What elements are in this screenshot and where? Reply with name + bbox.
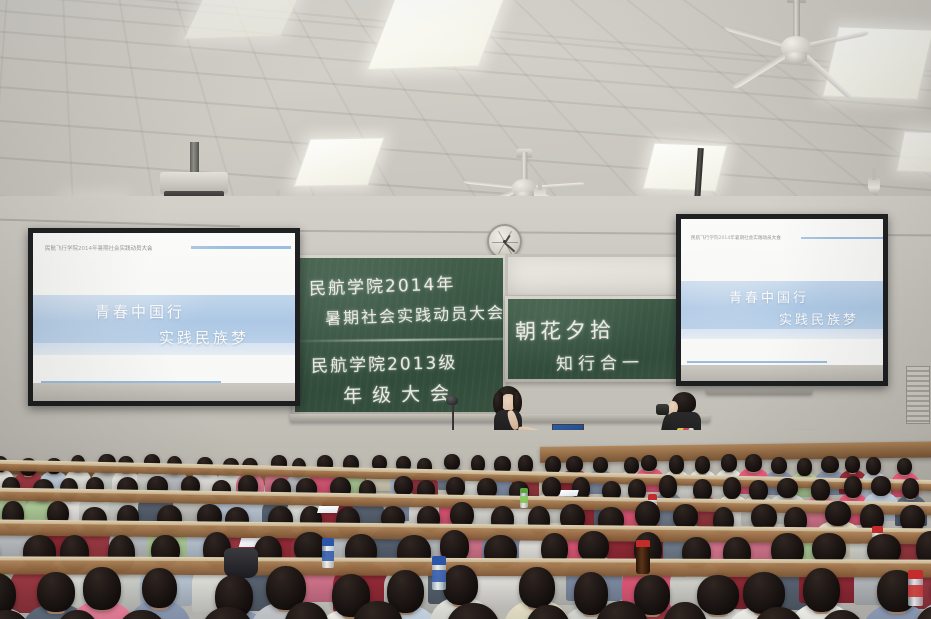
left-screen-bottom-bar [33, 383, 295, 401]
audience-head [83, 567, 120, 609]
audience-head [745, 454, 762, 471]
right-screen-bottom-bar [681, 365, 883, 381]
audience-head [897, 458, 912, 476]
bottle-cap [636, 540, 650, 547]
clock-center-pin [503, 240, 506, 243]
water-bottle [322, 538, 334, 568]
audience-head [777, 478, 798, 498]
water-bottle [908, 570, 923, 606]
audience-head [659, 475, 677, 497]
blackboard-right-surface: 朝花夕拾 知行合一 [508, 299, 678, 379]
blackboard-line-1: 民航学院2014年 [309, 269, 456, 299]
water-bottle [432, 556, 446, 590]
audience-head [902, 478, 920, 499]
chalk-tray-right [706, 388, 812, 394]
right-slide-header: 民航飞行学院2014年暑期社会实践动员大会 [691, 235, 781, 241]
bottle-label [520, 496, 528, 503]
audience-head [624, 457, 639, 474]
audience-head [444, 454, 460, 470]
left-slide-rule-top [191, 246, 291, 249]
blackboard-main: 民航学院2014年 暑期社会实践动员大会 民航学院2013级 年级大会 [292, 255, 506, 415]
audience-head [866, 457, 880, 475]
fan-hub-cap [785, 52, 807, 64]
audience-head [669, 455, 684, 474]
bottle-cap [872, 526, 883, 533]
audience-head [519, 567, 555, 608]
audience-head [811, 479, 830, 501]
audience-head [825, 501, 851, 526]
audience-head [566, 456, 583, 473]
bottle-cap [432, 556, 446, 565]
audience-head [871, 476, 891, 496]
paper-handout [317, 506, 339, 513]
bottle-label [908, 585, 923, 597]
sprinkler-head [868, 178, 880, 194]
audience-head [803, 568, 840, 613]
bottle-cap [908, 570, 923, 579]
bottle-label [322, 551, 334, 561]
audience-head [635, 501, 660, 528]
ceiling-light-panel [643, 143, 728, 192]
left-projection-screen: 民航飞行学院2014年暑期社会实践动员大会 青春中国行 实践民族梦 [28, 228, 300, 406]
blackboard-line-2: 暑期社会实践动员大会 [325, 299, 503, 329]
left-screen-surface: 民航飞行学院2014年暑期社会实践动员大会 青春中国行 实践民族梦 [33, 233, 295, 401]
blackboard-surface: 民航学院2014年 暑期社会实践动员大会 民航学院2013级 年级大会 [295, 258, 503, 412]
audience-head [821, 456, 838, 473]
wall-vent-grille [906, 366, 930, 424]
audience-head [721, 454, 737, 472]
audience-head [771, 457, 787, 474]
right-projection-screen: 民航飞行学院2014年暑期社会实践动员大会 青春中国行 实践民族梦 [676, 214, 888, 386]
right-slide-band-light [681, 329, 883, 339]
blackboard-right: 朝花夕拾 知行合一 [505, 296, 681, 382]
audience-head [693, 479, 713, 501]
microphone-head [446, 396, 458, 405]
audience-head [844, 476, 862, 498]
audience-head [749, 480, 768, 501]
audience-head [142, 568, 177, 609]
audience-head [797, 458, 811, 476]
audience-head [641, 455, 657, 471]
audience-head [37, 572, 75, 612]
blackboard-line-3: 民航学院2013级 [311, 348, 458, 377]
bottle-label [432, 570, 446, 582]
cola-bottle [636, 540, 650, 574]
audience-head [697, 575, 739, 616]
blackboard-right-line-1: 朝花夕拾 [515, 314, 616, 346]
left-slide-title-1: 青春中国行 [95, 301, 185, 322]
left-slide-header: 民航飞行学院2014年暑期社会实践动员大会 [45, 244, 153, 252]
bottle-cap [520, 488, 528, 493]
paper-handout [559, 490, 579, 496]
lecture-hall-photo: EPSON 民航学院2014年 暑期社会实践动员大会 民航学院2013级 年级大… [0, 0, 931, 619]
blackboard-right-line-2: 知行合一 [556, 348, 644, 375]
right-slide-title-1: 青春中国行 [729, 287, 809, 306]
audience-head [845, 456, 860, 473]
right-slide-title-2: 实践民族梦 [779, 309, 859, 328]
right-slide-rule-top [801, 237, 883, 239]
audience-head [695, 456, 711, 474]
blackboard-line-4: 年级大会 [343, 378, 460, 408]
audience-head [593, 457, 608, 473]
audience-head [443, 565, 478, 605]
right-slide-rule-bottom [687, 361, 827, 363]
left-slide-title-2: 实践民族梦 [159, 327, 249, 348]
whiteboard-panel [505, 254, 701, 298]
projector-mount-pole [190, 142, 199, 174]
left-slide: 民航飞行学院2014年暑期社会实践动员大会 青春中国行 实践民族梦 [33, 233, 295, 401]
right-screen-surface: 民航飞行学院2014年暑期社会实践动员大会 青春中国行 实践民族梦 [681, 219, 883, 381]
right-slide: 民航飞行学院2014年暑期社会实践动员大会 青春中国行 实践民族梦 [681, 219, 883, 381]
backpack [224, 548, 258, 578]
blackboard-divider-line [297, 338, 503, 342]
green-tea-bottle [520, 488, 528, 508]
audience-head [723, 477, 741, 499]
audience-area [0, 430, 931, 619]
bottle-cap [648, 494, 657, 500]
bottle-cap [322, 538, 334, 546]
